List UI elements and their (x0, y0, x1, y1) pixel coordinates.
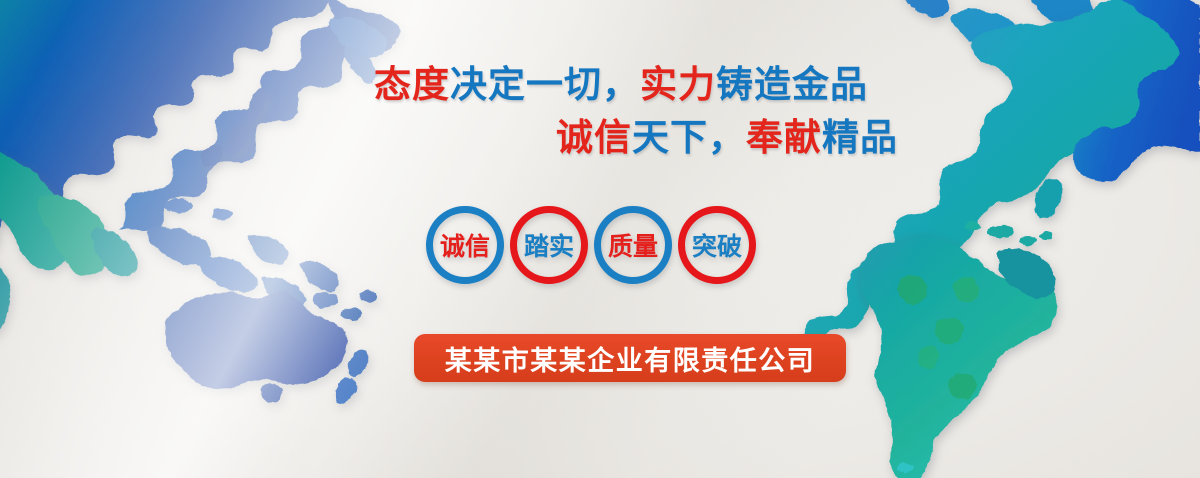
map-region-south-asia (0, 149, 137, 276)
keyword-badge-label: 踏实 (524, 227, 574, 263)
map-region-north-america (800, 0, 1200, 356)
keyword-badge-tupo: 突破 (678, 206, 756, 284)
headline-seg-3: 实力 (640, 64, 716, 105)
keyword-badge-zhiliang: 质量 (594, 206, 672, 284)
promotional-banner: 态度决定一切，实力铸造金品 诚信天下，奉献精品 诚信 踏实 质量 突破 某某市某… (0, 0, 1200, 478)
company-name-plaque: 某某市某某企业有限责任公司 (414, 334, 846, 382)
headline-seg-1: 态度 (374, 64, 450, 105)
headline-seg-6: 天下， (632, 117, 746, 158)
headline-block: 态度决定一切，实力铸造金品 诚信天下，奉献精品 (374, 66, 904, 156)
map-region-south-america (858, 235, 1058, 478)
map-region-australia (165, 292, 347, 404)
keyword-badge-chengxin: 诚信 (426, 206, 504, 284)
map-region-japan (201, 89, 267, 167)
map-region-new-zealand (336, 349, 368, 404)
keyword-badge-label: 质量 (608, 227, 658, 263)
keyword-badge-tashi: 踏实 (510, 206, 588, 284)
company-name-text: 某某市某某企业有限责任公司 (445, 339, 816, 378)
keyword-badge-label: 突破 (692, 227, 742, 263)
map-region-greenland (899, 0, 1092, 26)
map-region-asia (0, 0, 399, 250)
map-region-southeast-asia (146, 199, 377, 321)
headline-seg-7: 奉献 (746, 117, 822, 158)
keyword-badge-row: 诚信 踏实 质量 突破 (426, 206, 756, 284)
map-region-africa-edge (0, 250, 9, 343)
headline-seg-4: 铸造金品 (716, 64, 868, 105)
headline-line-2: 诚信天下，奉献精品 (374, 119, 904, 156)
headline-seg-2: 决定一切， (450, 64, 640, 105)
keyword-badge-label: 诚信 (440, 227, 490, 263)
headline-seg-8: 精品 (822, 117, 898, 158)
headline-seg-5: 诚信 (556, 117, 632, 158)
headline-line-1: 态度决定一切，实力铸造金品 (374, 66, 904, 103)
